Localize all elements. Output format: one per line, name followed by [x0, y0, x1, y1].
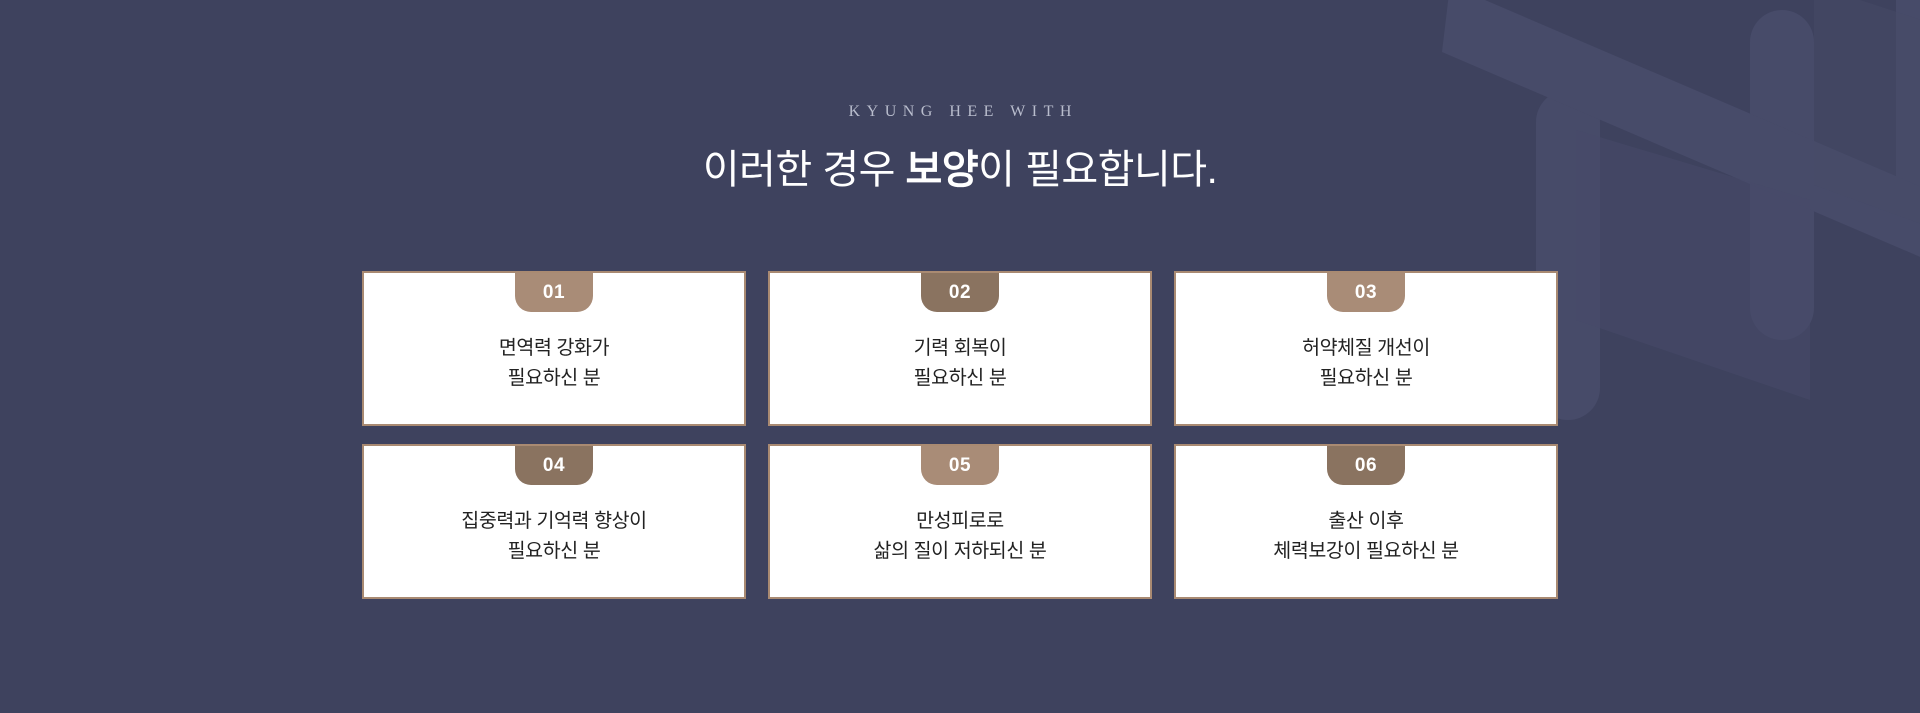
card-text: 만성피로로 삶의 질이 저하되신 분 — [874, 507, 1047, 566]
reason-card-05[interactable]: 05 만성피로로 삶의 질이 저하되신 분 — [768, 444, 1152, 599]
section-header: KYUNG HEE WITH 이러한 경우 보양이 필요합니다. — [0, 0, 1920, 195]
reason-card-04[interactable]: 04 집중력과 기억력 향상이 필요하신 분 — [362, 444, 746, 599]
reason-card-grid: 01 면역력 강화가 필요하신 분 02 기력 회복이 필요하신 분 03 허약… — [362, 271, 1558, 599]
card-line-1: 면역력 강화가 — [499, 337, 609, 359]
card-line-2: 삶의 질이 저하되신 분 — [874, 537, 1047, 566]
section-eyebrow: KYUNG HEE WITH — [0, 104, 1920, 120]
title-suffix: 이 필요합니다. — [978, 148, 1217, 192]
card-line-1: 기력 회복이 — [914, 337, 1007, 359]
card-line-2: 필요하신 분 — [914, 364, 1007, 393]
reason-card-02[interactable]: 02 기력 회복이 필요하신 분 — [768, 271, 1152, 426]
card-line-1: 허약체질 개선이 — [1302, 337, 1430, 359]
card-number-badge: 02 — [921, 273, 999, 312]
page-title: 이러한 경우 보양이 필요합니다. — [0, 145, 1920, 195]
card-text: 출산 이후 체력보강이 필요하신 분 — [1273, 507, 1458, 566]
title-prefix: 이러한 경우 — [703, 148, 906, 192]
card-line-1: 만성피로로 — [916, 510, 1004, 532]
card-number-badge: 03 — [1327, 273, 1405, 312]
card-line-2: 필요하신 분 — [499, 364, 609, 393]
card-number-badge: 06 — [1327, 446, 1405, 485]
reason-card-06[interactable]: 06 출산 이후 체력보강이 필요하신 분 — [1174, 444, 1558, 599]
card-line-1: 출산 이후 — [1328, 510, 1403, 532]
card-line-2: 필요하신 분 — [1302, 364, 1430, 393]
reason-card-03[interactable]: 03 허약체질 개선이 필요하신 분 — [1174, 271, 1558, 426]
card-line-1: 집중력과 기억력 향상이 — [461, 510, 646, 532]
boyang-need-section: KYUNG HEE WITH 이러한 경우 보양이 필요합니다. 01 면역력 … — [0, 0, 1920, 713]
card-text: 기력 회복이 필요하신 분 — [914, 334, 1007, 393]
title-highlight: 보양 — [906, 148, 979, 192]
card-text: 허약체질 개선이 필요하신 분 — [1302, 334, 1430, 393]
card-number-badge: 05 — [921, 446, 999, 485]
card-number-badge: 04 — [515, 446, 593, 485]
card-number-badge: 01 — [515, 273, 593, 312]
card-text: 집중력과 기억력 향상이 필요하신 분 — [461, 507, 646, 566]
reason-card-01[interactable]: 01 면역력 강화가 필요하신 분 — [362, 271, 746, 426]
card-line-2: 체력보강이 필요하신 분 — [1273, 537, 1458, 566]
card-text: 면역력 강화가 필요하신 분 — [499, 334, 609, 393]
card-line-2: 필요하신 분 — [461, 537, 646, 566]
